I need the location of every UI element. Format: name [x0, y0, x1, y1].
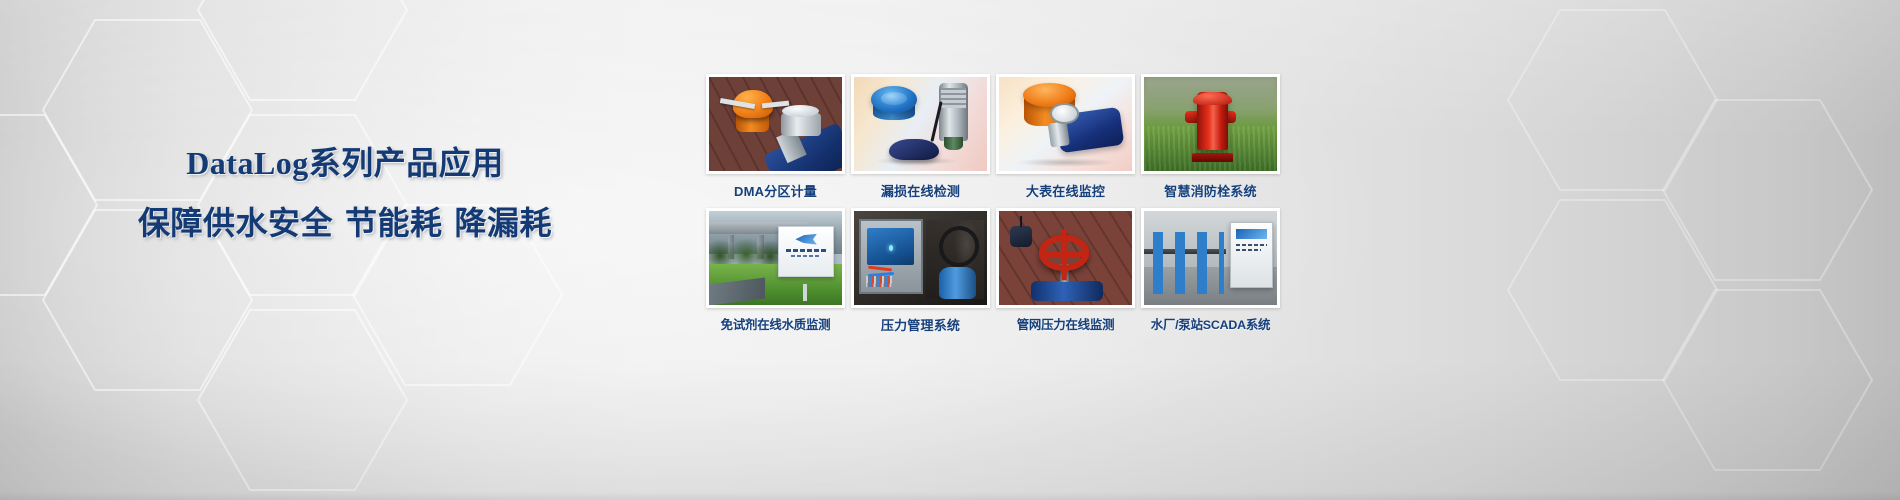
smart-fire-hydrant-system-photo	[1144, 77, 1277, 171]
banner-bottom-divider	[0, 492, 1900, 500]
headline-line-2-part-a: 保障供水安全	[138, 205, 333, 241]
headline-line-2-part-b: 节能耗	[345, 205, 443, 241]
product-caption: 免试剂在线水质监测	[706, 315, 845, 333]
product-thumbnail[interactable]	[996, 74, 1135, 174]
pressure-management-system-photo	[854, 211, 987, 305]
reagent-free-water-quality-photo	[709, 211, 842, 305]
product-caption: 漏损在线检测	[851, 181, 990, 200]
headline-line-1: DataLog系列产品应用	[0, 142, 690, 184]
product-thumbnail[interactable]	[706, 208, 845, 308]
product-thumbnail[interactable]	[996, 208, 1135, 308]
product-thumbnail[interactable]	[706, 74, 845, 174]
product-card[interactable]: 水厂/泵站SCADA系统	[1141, 208, 1280, 334]
product-caption: 智慧消防栓系统	[1141, 181, 1280, 200]
product-card[interactable]: 大表在线监控	[996, 74, 1135, 200]
leak-online-detection-photo	[854, 77, 987, 171]
product-thumbnail[interactable]	[1141, 74, 1280, 174]
product-card[interactable]: DMA分区计量	[706, 74, 845, 200]
product-caption: 管网压力在线监测	[996, 315, 1135, 333]
product-card[interactable]: 压力管理系统	[851, 208, 990, 334]
product-card[interactable]: 漏损在线检测	[851, 74, 990, 200]
product-caption: 压力管理系统	[851, 315, 990, 334]
product-thumbnail[interactable]	[1141, 208, 1280, 308]
pipe-network-pressure-photo	[999, 211, 1132, 305]
product-card[interactable]: 免试剂在线水质监测	[706, 208, 845, 334]
headline-line-2-part-c: 降漏耗	[455, 205, 553, 241]
product-card[interactable]: 智慧消防栓系统	[1141, 74, 1280, 200]
banner-headline: DataLog系列产品应用 保障供水安全节能耗降漏耗	[0, 142, 690, 244]
product-thumbnail[interactable]	[851, 74, 990, 174]
dma-district-metering-photo	[709, 77, 842, 171]
waterworks-pump-scada-photo	[1144, 211, 1277, 305]
product-caption: DMA分区计量	[706, 181, 845, 200]
product-thumbnail[interactable]	[851, 208, 990, 308]
product-caption: 水厂/泵站SCADA系统	[1141, 315, 1280, 333]
product-card-grid: DMA分区计量 漏损在线检测	[706, 74, 1286, 334]
large-meter-online-monitoring-photo	[999, 77, 1132, 171]
product-caption: 大表在线监控	[996, 181, 1135, 200]
product-card[interactable]: 管网压力在线监测	[996, 208, 1135, 334]
product-application-banner: DataLog系列产品应用 保障供水安全节能耗降漏耗 DMA分区计量	[0, 0, 1900, 500]
headline-line-2: 保障供水安全节能耗降漏耗	[0, 202, 690, 244]
